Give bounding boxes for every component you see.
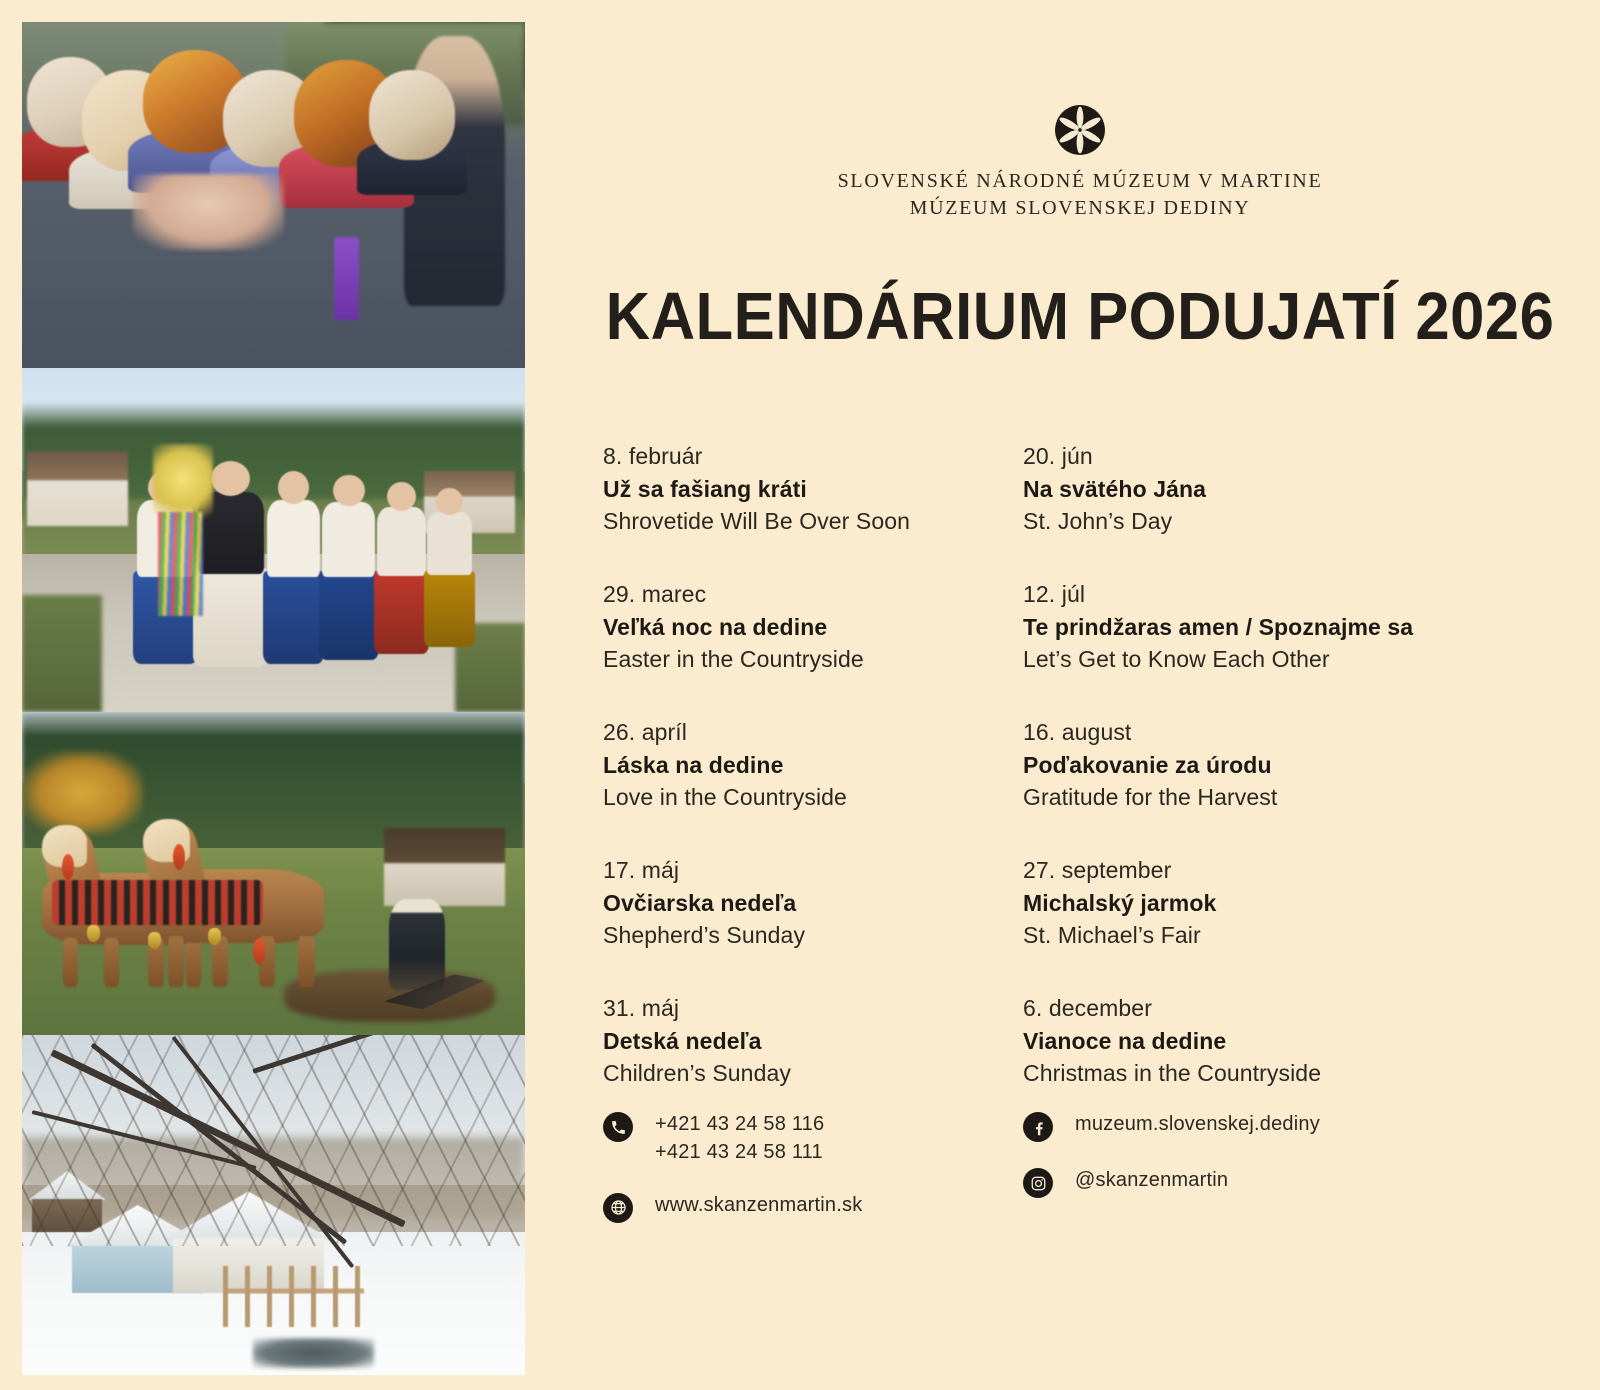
event-title-sk: Láska na dedine	[603, 749, 1023, 782]
event-date: 6. december	[1023, 992, 1600, 1025]
event-title-sk: Poďakovanie za úrodu	[1023, 749, 1600, 782]
event-item: 31. máj Detská nedeľa Children’s Sunday	[603, 992, 1023, 1090]
event-date: 16. august	[1023, 716, 1600, 749]
event-date: 17. máj	[603, 854, 1023, 887]
rosette-star-icon	[1054, 104, 1106, 156]
contact-phone[interactable]: +421 43 24 58 116 +421 43 24 58 111	[603, 1110, 1023, 1167]
phone-numbers: +421 43 24 58 116 +421 43 24 58 111	[655, 1110, 824, 1167]
event-title-sk: Veľká noc na dedine	[603, 611, 1023, 644]
contact-column-left: +421 43 24 58 116 +421 43 24 58 111	[603, 1110, 1023, 1223]
event-date: 29. marec	[603, 578, 1023, 611]
page-title: KALENDÁRIUM PODUJATÍ 2026	[602, 278, 1559, 355]
event-title-en: Easter in the Countryside	[603, 643, 1023, 676]
event-title-sk: Te prindžaras amen / Spoznajme sa	[1023, 611, 1600, 644]
event-title-sk: Už sa fašiang kráti	[603, 473, 1023, 506]
contact-column-right: muzeum.slovenskej.dediny @skanzenmartin	[1023, 1110, 1600, 1223]
event-title-en: Shepherd’s Sunday	[603, 919, 1023, 952]
event-date: 8. február	[603, 440, 1023, 473]
event-item: 26. apríl Láska na dedine Love in the Co…	[603, 716, 1023, 814]
museum-name-line1: SLOVENSKÉ NÁRODNÉ MÚZEUM V MARTINE	[560, 168, 1600, 195]
event-item: 8. február Už sa fašiang kráti Shrovetid…	[603, 440, 1023, 538]
photo-draft-horses-plough	[22, 712, 525, 1035]
events-column-left: 8. február Už sa fašiang kráti Shrovetid…	[603, 440, 1023, 1130]
event-item: 27. september Michalský jarmok St. Micha…	[1023, 854, 1600, 952]
event-title-sk: Michalský jarmok	[1023, 887, 1600, 920]
contact-facebook[interactable]: muzeum.slovenskej.dediny	[1023, 1110, 1600, 1142]
event-date: 31. máj	[603, 992, 1023, 1025]
event-item: 12. júl Te prindžaras amen / Spoznajme s…	[1023, 578, 1600, 676]
event-title-en: Children’s Sunday	[603, 1057, 1023, 1090]
events-list: 8. február Už sa fašiang kráti Shrovetid…	[603, 440, 1600, 1130]
contact-instagram[interactable]: @skanzenmartin	[1023, 1166, 1600, 1198]
event-item: 29. marec Veľká noc na dedine Easter in …	[603, 578, 1023, 676]
event-date: 12. júl	[1023, 578, 1600, 611]
event-item: 17. máj Ovčiarska nedeľa Shepherd’s Sund…	[603, 854, 1023, 952]
event-title-sk: Vianoce na dedine	[1023, 1025, 1600, 1058]
event-date: 20. jún	[1023, 440, 1600, 473]
poster-content: SLOVENSKÉ NÁRODNÉ MÚZEUM V MARTINE MÚZEU…	[560, 0, 1600, 1390]
photo-winter-village-cottages	[22, 1035, 525, 1375]
event-item: 20. jún Na svätého Jána St. John’s Day	[1023, 440, 1600, 538]
contact-website[interactable]: www.skanzenmartin.sk	[603, 1191, 1023, 1223]
event-title-sk: Detská nedeľa	[603, 1025, 1023, 1058]
event-title-en: St. John’s Day	[1023, 505, 1600, 538]
event-title-sk: Ovčiarska nedeľa	[603, 887, 1023, 920]
event-title-sk: Na svätého Jána	[1023, 473, 1600, 506]
event-title-en: Love in the Countryside	[603, 781, 1023, 814]
event-date: 26. apríl	[603, 716, 1023, 749]
facebook-icon	[1023, 1112, 1053, 1142]
museum-name-line2: MÚZEUM SLOVENSKEJ DEDINY	[560, 195, 1600, 222]
facebook-handle: muzeum.slovenskej.dediny	[1075, 1110, 1320, 1138]
photo-folk-procession	[22, 368, 525, 712]
event-date: 27. september	[1023, 854, 1600, 887]
photo-strip	[22, 22, 525, 1375]
event-title-en: Gratitude for the Harvest	[1023, 781, 1600, 814]
event-title-en: St. Michael’s Fair	[1023, 919, 1600, 952]
event-title-en: Shrovetide Will Be Over Soon	[603, 505, 1023, 538]
event-title-en: Let’s Get to Know Each Other	[1023, 643, 1600, 676]
phone-icon	[603, 1112, 633, 1142]
phone-number-2: +421 43 24 58 111	[655, 1138, 824, 1166]
contact-section: +421 43 24 58 116 +421 43 24 58 111	[603, 1110, 1600, 1223]
globe-icon	[603, 1193, 633, 1223]
event-title-en: Christmas in the Countryside	[1023, 1057, 1600, 1090]
museum-branding: SLOVENSKÉ NÁRODNÉ MÚZEUM V MARTINE MÚZEU…	[560, 104, 1600, 222]
photo-children-folk-headscarves	[22, 22, 525, 368]
event-item: 16. august Poďakovanie za úrodu Gratitud…	[1023, 716, 1600, 814]
events-column-right: 20. jún Na svätého Jána St. John’s Day 1…	[1023, 440, 1600, 1130]
poster-root: SLOVENSKÉ NÁRODNÉ MÚZEUM V MARTINE MÚZEU…	[0, 0, 1600, 1390]
website-url: www.skanzenmartin.sk	[655, 1191, 862, 1219]
event-item: 6. december Vianoce na dedine Christmas …	[1023, 992, 1600, 1090]
phone-number-1: +421 43 24 58 116	[655, 1110, 824, 1138]
instagram-handle: @skanzenmartin	[1075, 1166, 1228, 1194]
instagram-icon	[1023, 1168, 1053, 1198]
